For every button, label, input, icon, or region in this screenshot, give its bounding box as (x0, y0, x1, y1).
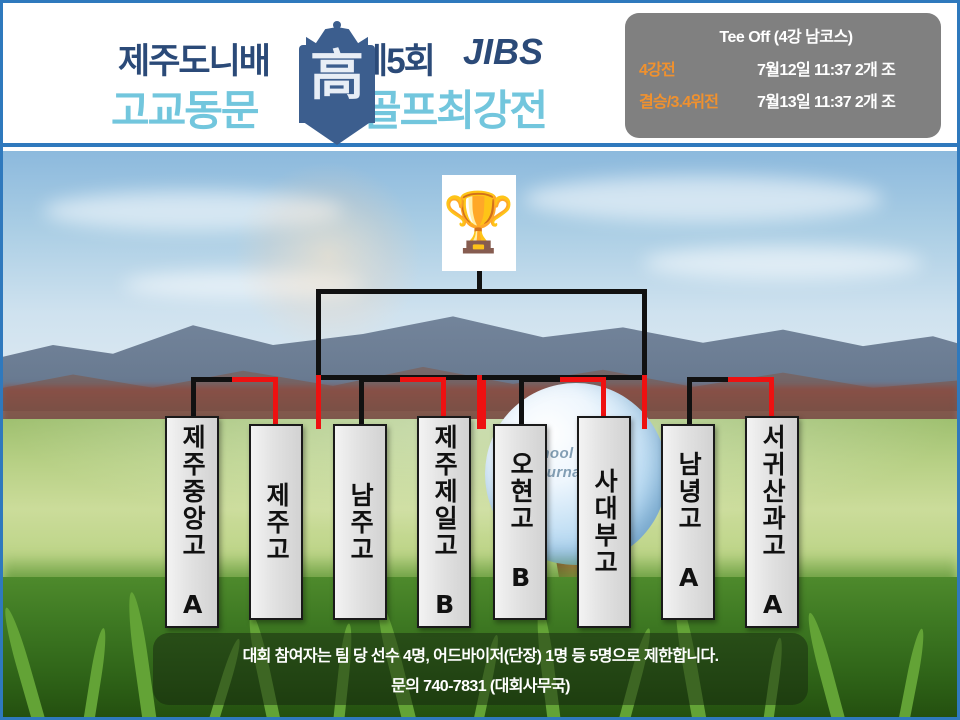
footer-note-line-2: 문의 740-7831 (대회사무국) (391, 672, 570, 696)
tee-off-title: Tee Off (4강 남코스) (639, 23, 927, 47)
connector-semifinal-right-accent-down (642, 375, 647, 429)
connector-final-bar (316, 289, 647, 294)
connector-semifinal-right-accent-left (477, 375, 482, 429)
connector-qf1-bar-right (232, 377, 278, 382)
team-name-6: 사대부고 (591, 468, 617, 576)
team-box-4[interactable]: 제주제일고 B (417, 416, 471, 628)
connector-qf3-drop-team5 (519, 377, 524, 425)
team-box-2[interactable]: 제주고 (249, 424, 303, 620)
connector-qf4-drop-team7 (687, 377, 692, 425)
tee-off-label-final: 결승/3.4위전 (639, 88, 757, 112)
event-logo: 제주도니배 제5회 JIBS 고교동문 골프최강전 高 (108, 15, 558, 135)
team-name-3: 남주고 (347, 482, 373, 563)
connector-final-left-drop (316, 289, 321, 379)
shield-point (299, 119, 375, 145)
team-name-7: 남녕고 A (675, 451, 701, 594)
trophy-glyph: 🏆 (443, 194, 515, 252)
connector-qf4-bar-left (687, 377, 733, 382)
tournament-bracket-page: 제주도니배 제5회 JIBS 고교동문 골프최강전 高 Tee Off (4강 … (0, 0, 960, 720)
tee-off-panel: Tee Off (4강 남코스) 4강전 7월12일 11:37 2개 조 결승… (625, 13, 941, 138)
team-name-5: 오현고 B (507, 451, 533, 594)
header-banner: 제주도니배 제5회 JIBS 고교동문 골프최강전 高 Tee Off (4강 … (3, 3, 957, 147)
team-name-2: 제주고 (263, 482, 289, 563)
connector-qf2-bar-right (400, 377, 446, 382)
connector-qf1-bar-left (191, 377, 237, 382)
connector-semifinal-left-accent-down (316, 375, 321, 429)
team-box-6[interactable]: 사대부고 (577, 416, 631, 628)
team-box-5[interactable]: 오현고 B (493, 424, 547, 620)
logo-text-bottom-left: 고교동문 (111, 77, 258, 138)
trophy-icon: 🏆 (442, 175, 516, 271)
connector-qf3-bar-right (560, 377, 606, 382)
connector-qf3-bar-left (519, 377, 565, 382)
footer-note-panel: 대회 참여자는 팀 당 선수 4명, 어드바이저(단장) 1명 등 5명으로 제… (153, 633, 808, 705)
connector-final-right-drop (642, 289, 647, 379)
team-name-1: 제주중앙고 A (179, 424, 205, 621)
connector-qf1-drop-team2 (273, 377, 278, 425)
connector-qf2-drop-team3 (359, 377, 364, 425)
connector-qf4-bar-right (728, 377, 774, 382)
team-box-1[interactable]: 제주중앙고 A (165, 416, 219, 628)
connector-qf2-bar-left (359, 377, 405, 382)
footer-note-line-1: 대회 참여자는 팀 당 선수 4명, 어드바이저(단장) 1명 등 5명으로 제… (243, 642, 719, 666)
team-name-4: 제주제일고 B (431, 424, 457, 621)
tee-off-value-final: 7월13일 11:37 2개 조 (757, 88, 895, 112)
tee-off-label-semifinal: 4강전 (639, 56, 757, 80)
background-scene: School Alumni Tournament! 🏆 (3, 151, 957, 717)
tee-off-row: 4강전 7월12일 11:37 2개 조 (639, 56, 927, 80)
shield-character: 高 (293, 49, 381, 103)
tee-off-row: 결승/3.4위전 7월13일 11:37 2개 조 (639, 88, 927, 112)
tee-off-value-semifinal: 7월12일 11:37 2개 조 (757, 56, 895, 80)
team-box-7[interactable]: 남녕고 A (661, 424, 715, 620)
team-box-8[interactable]: 서귀산과고 A (745, 416, 799, 628)
logo-text-bottom-right: 골프최강전 (363, 77, 546, 138)
shield-emblem-icon: 高 (293, 19, 381, 144)
logo-brand-jibs: JIBS (463, 31, 543, 73)
team-box-3[interactable]: 남주고 (333, 424, 387, 620)
team-name-8: 서귀산과고 A (759, 424, 785, 621)
